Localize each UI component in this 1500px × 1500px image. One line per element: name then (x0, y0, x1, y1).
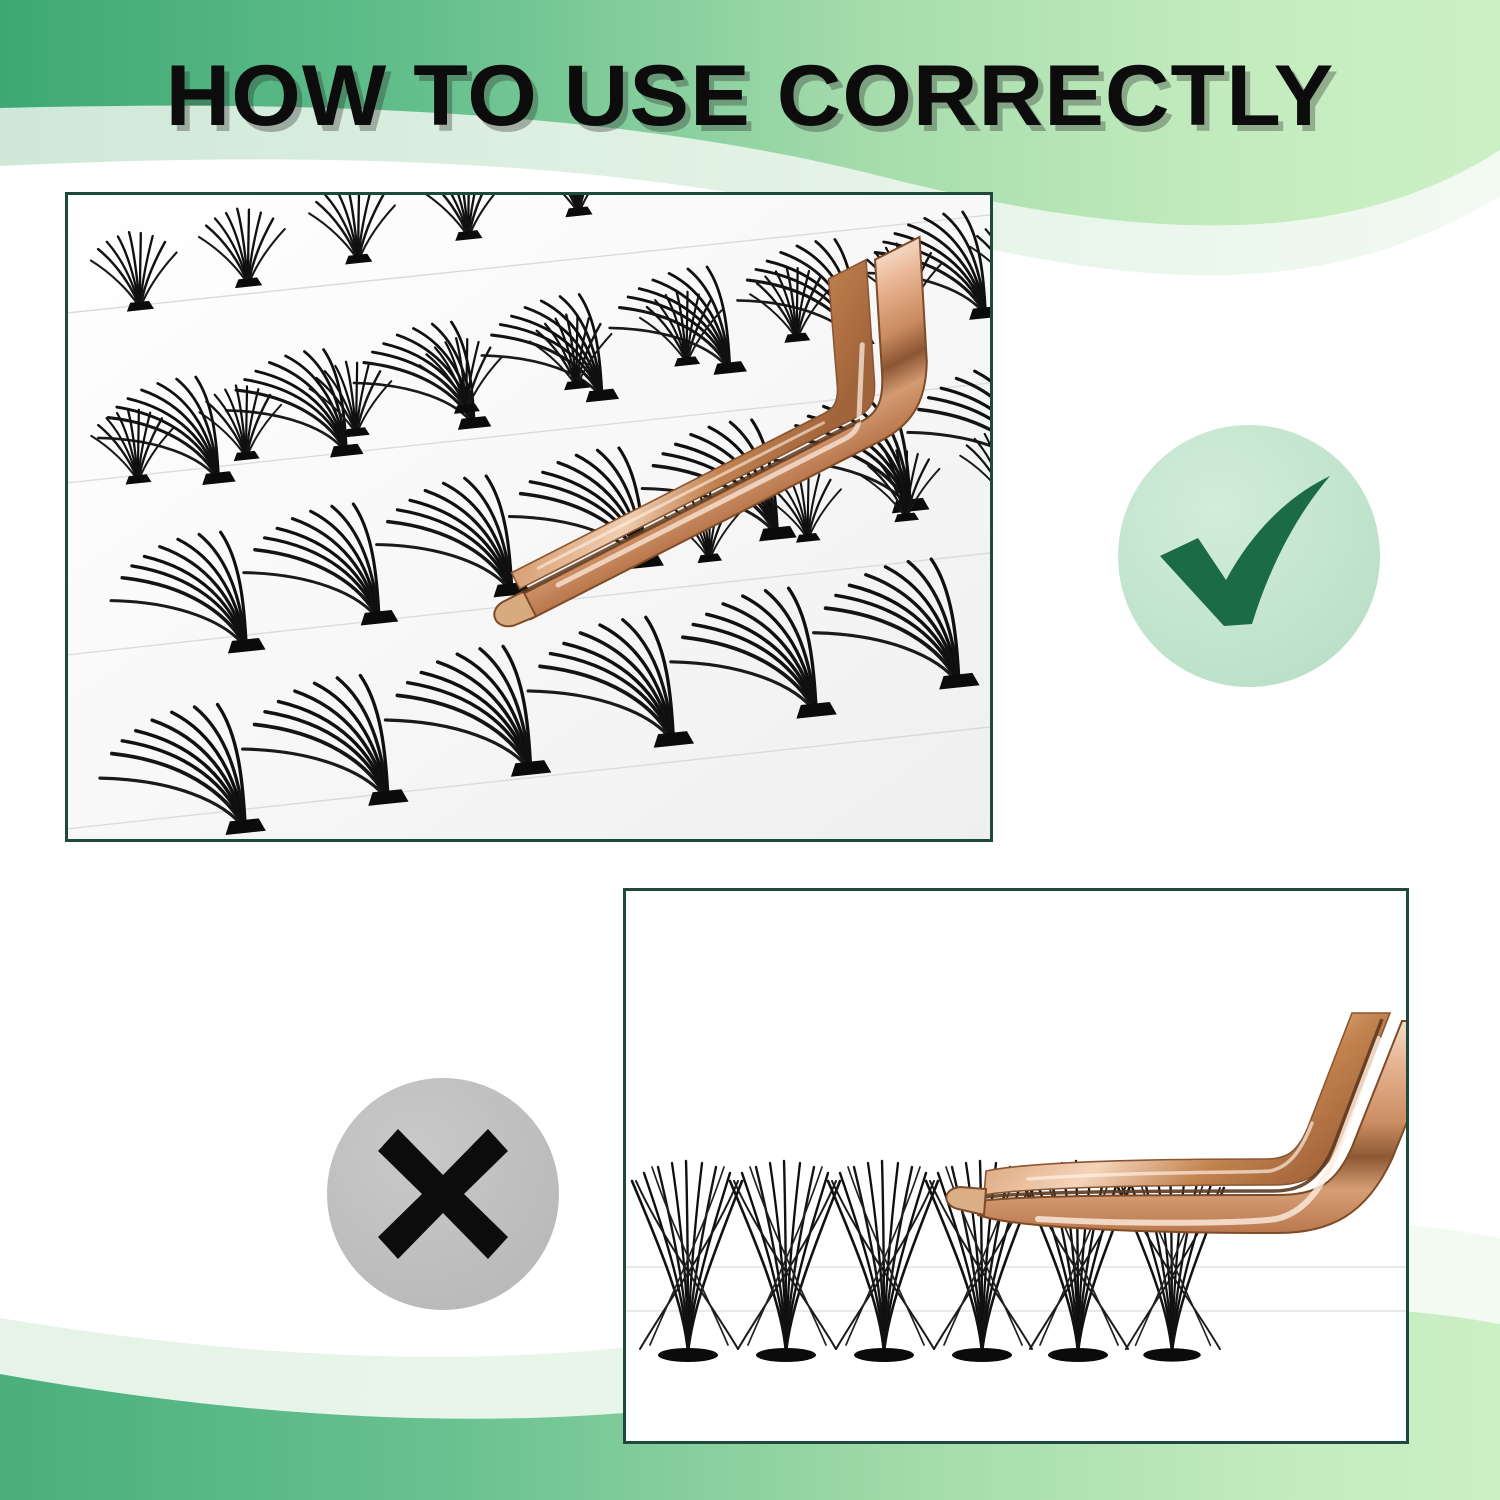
lash-tray-scene-incorrect (626, 891, 1406, 1441)
incorrect-usage-photo (623, 888, 1409, 1444)
infographic-canvas: HOW TO USE CORRECTLY (0, 0, 1500, 1500)
check-mark-glyph (1154, 476, 1344, 636)
cross-icon (327, 1078, 559, 1310)
lash-tray-scene-correct (68, 195, 990, 839)
cross-mark-glyph (374, 1125, 512, 1263)
page-title: HOW TO USE CORRECTLY (0, 48, 1500, 144)
correct-usage-photo (65, 192, 993, 842)
lash-tray-illustration (68, 195, 990, 839)
lash-row-illustration (626, 891, 1406, 1441)
check-icon (1118, 425, 1380, 687)
